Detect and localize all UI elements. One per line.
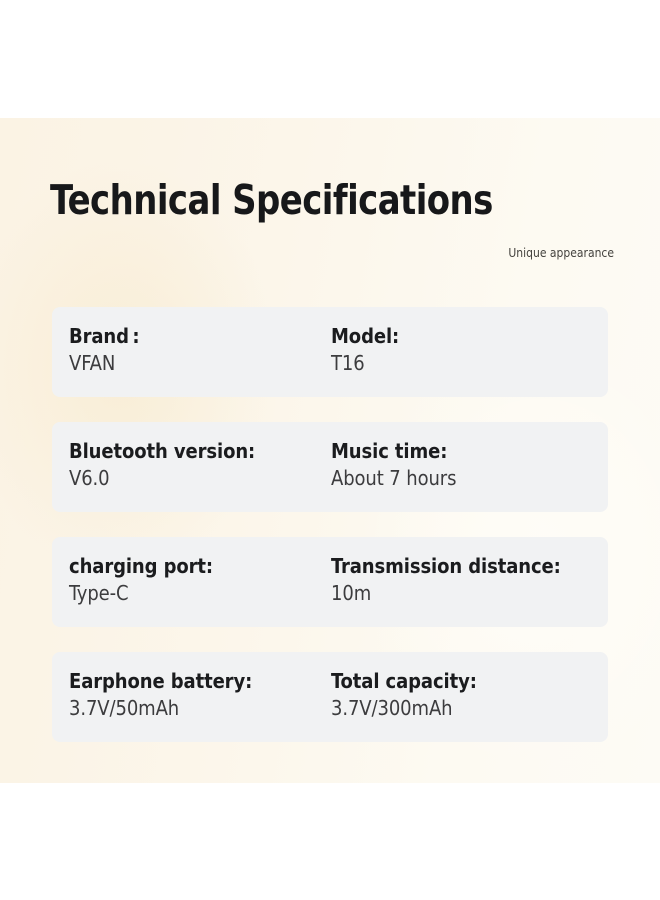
spec-cell-charging-port: charging port: Type-C [69, 553, 337, 607]
spec-cell-transmission-distance: Transmission distance: 10m [331, 553, 603, 607]
page-title: Technical Specifications [50, 180, 493, 221]
spec-label: Brand : [69, 323, 337, 349]
spec-row: charging port: Type-C Transmission dista… [52, 537, 608, 627]
spec-label: Music time: [331, 438, 603, 464]
spec-label: Bluetooth version: [69, 438, 337, 464]
spec-value: 3.7V/300mAh [331, 695, 603, 721]
spec-cell-total-capacity: Total capacity: 3.7V/300mAh [331, 668, 603, 722]
specification-list: Brand : VFAN Model: T16 Bluetooth versio… [52, 307, 608, 742]
spec-row: Brand : VFAN Model: T16 [52, 307, 608, 397]
spec-label: Earphone battery: [69, 668, 337, 694]
spec-cell-music-time: Music time: About 7 hours [331, 438, 603, 492]
spec-label: Model: [331, 323, 603, 349]
content-area: Technical Specifications Unique appearan… [0, 118, 660, 783]
spec-cell-bluetooth-version: Bluetooth version: V6.0 [69, 438, 337, 492]
spec-row: Earphone battery: 3.7V/50mAh Total capac… [52, 652, 608, 742]
tagline-text: Unique appearance [464, 246, 614, 261]
spec-label: Transmission distance: [331, 553, 603, 579]
spec-cell-brand: Brand : VFAN [69, 323, 337, 377]
spec-value: T16 [331, 350, 603, 376]
spec-row: Bluetooth version: V6.0 Music time: Abou… [52, 422, 608, 512]
spec-value: VFAN [69, 350, 337, 376]
spec-value: 3.7V/50mAh [69, 695, 337, 721]
product-spec-page: Technical Specifications Unique appearan… [0, 0, 660, 900]
spec-cell-model: Model: T16 [331, 323, 603, 377]
spec-value: 10m [331, 580, 603, 606]
spec-label: charging port: [69, 553, 337, 579]
spec-label: Total capacity: [331, 668, 603, 694]
spec-cell-earphone-battery: Earphone battery: 3.7V/50mAh [69, 668, 337, 722]
spec-value: About 7 hours [331, 465, 603, 491]
spec-value: Type-C [69, 580, 337, 606]
spec-value: V6.0 [69, 465, 337, 491]
